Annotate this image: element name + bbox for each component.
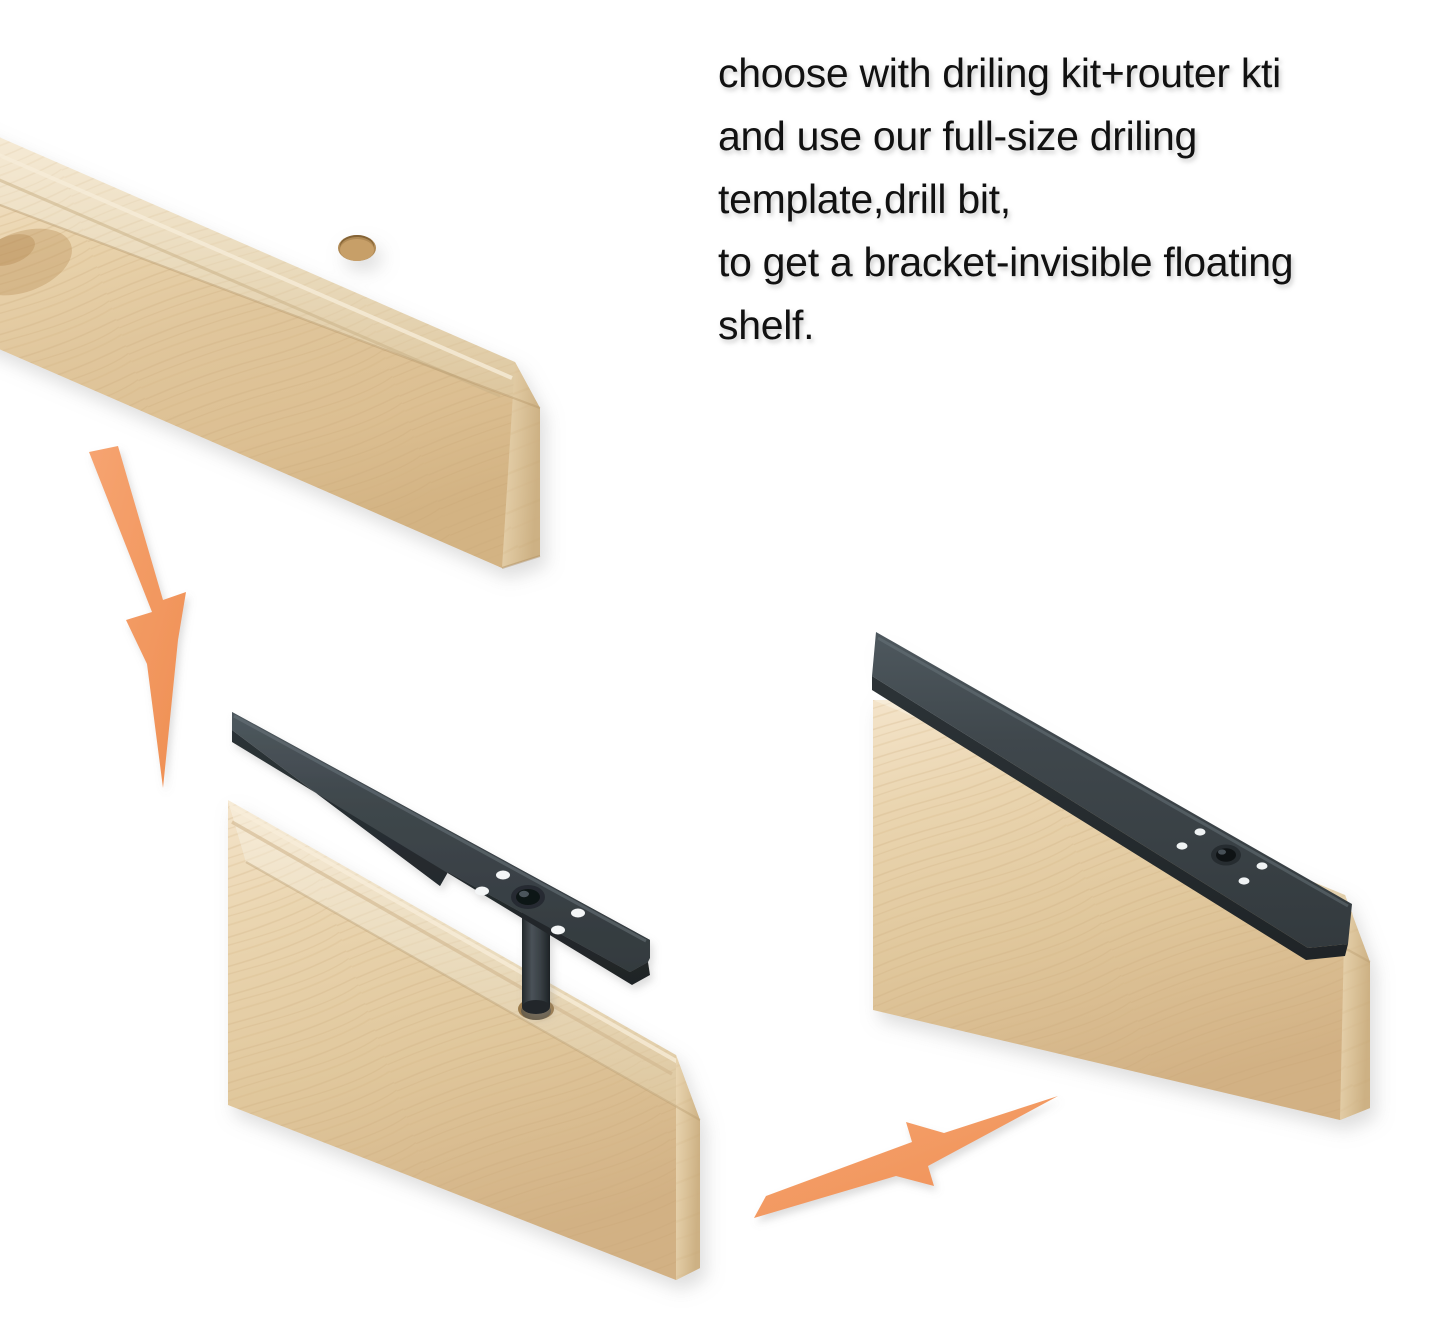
bracket-installed bbox=[872, 632, 1352, 960]
bracket-installed-screw-holes bbox=[1177, 828, 1268, 884]
bracket-center-hole bbox=[511, 885, 545, 909]
panel-plank-with-hole bbox=[0, 120, 540, 568]
plank2-end-grain bbox=[676, 1055, 700, 1280]
infographic-canvas: choose with driling kit+router kti and u… bbox=[0, 0, 1445, 1340]
instruction-caption: choose with driling kit+router kti and u… bbox=[718, 42, 1418, 357]
bracket-installed-edge bbox=[872, 676, 1348, 960]
plank2-front-face bbox=[228, 800, 700, 1280]
bracket-hardware bbox=[232, 712, 650, 1014]
plank3-groove bbox=[876, 640, 1356, 930]
panel-assembled-shelf bbox=[873, 640, 1370, 1120]
bracket-top-face bbox=[232, 712, 650, 958]
plank1-drilled-hole bbox=[338, 235, 376, 261]
plank1-knot bbox=[0, 216, 81, 308]
plank1-front-face bbox=[0, 190, 540, 568]
bracket-plate bbox=[448, 842, 650, 972]
plank1-top-channel bbox=[0, 120, 540, 408]
plank3-top-channel bbox=[873, 700, 1370, 962]
plank2-top-channel bbox=[228, 800, 700, 1120]
panel-bracket-insert bbox=[228, 800, 700, 1280]
bracket-installed-face bbox=[872, 632, 1352, 948]
bracket-edge bbox=[232, 730, 650, 985]
arrow-up-right bbox=[754, 1096, 1058, 1218]
plank3-end-grain bbox=[1340, 895, 1370, 1120]
plank1-end-grain bbox=[502, 362, 540, 568]
plank2-pin-socket bbox=[518, 998, 554, 1020]
bracket-installed-center-hole bbox=[1211, 845, 1241, 866]
bracket-screw-holes bbox=[475, 871, 585, 935]
bracket-rod-pin bbox=[522, 900, 550, 1014]
arrow-down-right bbox=[89, 446, 186, 788]
plank3-front-face bbox=[873, 700, 1370, 1120]
